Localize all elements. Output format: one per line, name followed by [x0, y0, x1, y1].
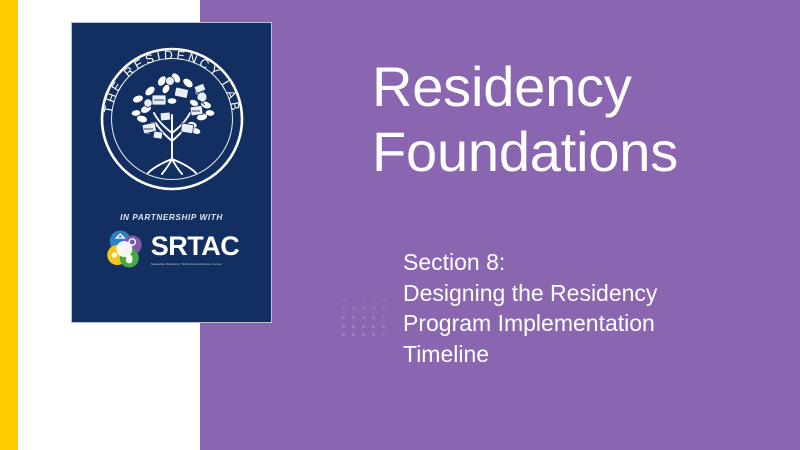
logo-stack: THE RESIDENCY LAB	[72, 23, 271, 322]
dot-grid-decoration-icon	[341, 297, 387, 337]
srtac-wordmark: SRTAC	[151, 233, 240, 260]
slide-subtitle: Section 8: Designing the Residency Progr…	[403, 247, 733, 369]
accent-bar-yellow	[0, 0, 18, 450]
srtac-wordmark-block: SRTAC Statewide Residency Technical Assi…	[151, 233, 240, 266]
srtac-logo: SRTAC Statewide Residency Technical Assi…	[104, 228, 240, 270]
presentation-slide: THE RESIDENCY LAB	[0, 0, 800, 450]
residency-lab-emblem-icon: THE RESIDENCY LAB	[90, 37, 254, 201]
partnership-label: IN PARTNERSHIP WITH	[72, 213, 271, 222]
logo-card: THE RESIDENCY LAB	[71, 22, 272, 323]
srtac-circles-icon	[104, 228, 146, 270]
srtac-tagline: Statewide Residency Technical Assistance…	[151, 262, 222, 266]
page-title: Residency Foundations	[372, 55, 772, 185]
